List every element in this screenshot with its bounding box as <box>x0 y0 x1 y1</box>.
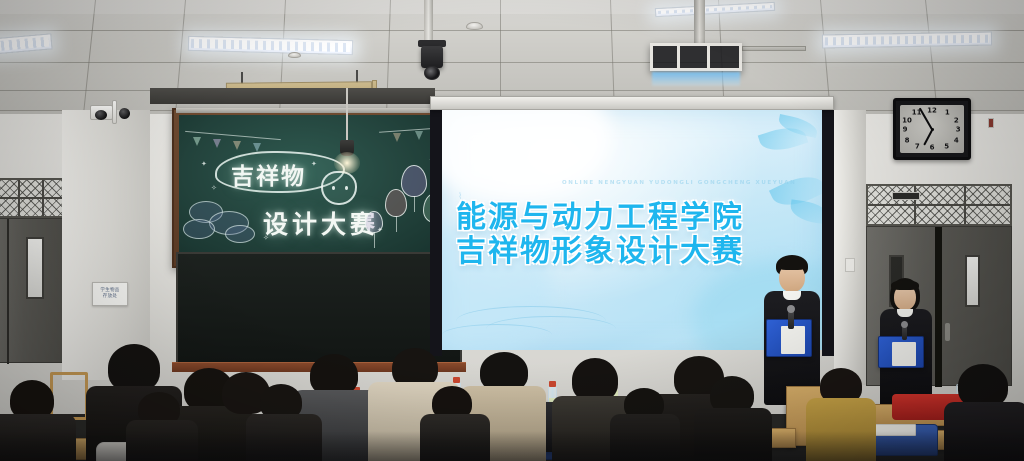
classroom-photo-scene: 学生物品 存放处 吉祥物 设计大赛 <box>0 0 1024 461</box>
left-door-window <box>26 237 44 299</box>
chalk-balloon <box>385 189 407 217</box>
wall-camera-bracket <box>112 100 117 124</box>
folder-page <box>892 342 916 366</box>
chalk-mascot-icon <box>321 171 357 205</box>
lamp-glow <box>334 152 360 174</box>
chalk-balloon <box>401 165 427 197</box>
chalk-sparkle: ✧ <box>263 235 269 242</box>
screen-leaf-decor-lower <box>789 199 822 224</box>
clock-numeral: 10 <box>902 117 912 124</box>
ceiling-vent <box>742 46 806 51</box>
right-wall-column <box>834 110 866 385</box>
bunting-flag <box>213 139 221 148</box>
slide-title-line-2: 吉祥物形象设计大赛 <box>456 226 744 270</box>
blackboard: 吉祥物 设计大赛 ✦ ✧ ✦ ✧ ✦ ✧ ✦ ✧ <box>172 108 460 268</box>
ceiling-panel-light-upper <box>822 32 992 49</box>
wall-switch-plate <box>845 258 855 272</box>
screen-left-border <box>430 98 442 356</box>
wall-clock: 12 1 2 3 4 5 6 7 8 9 10 11 <box>893 98 971 160</box>
clock-numeral: 1 <box>945 110 950 117</box>
bunting-flag <box>233 141 241 150</box>
screen-wash-top-left <box>442 110 612 200</box>
clock-numeral: 2 <box>954 117 959 124</box>
chalk-sparkle: ✦ <box>201 161 207 168</box>
screen-wave-line-3 <box>442 324 552 346</box>
right-door-window-right <box>965 255 980 307</box>
chalk-sparkle: ✦ <box>311 161 317 168</box>
left-door-seam <box>7 219 9 364</box>
bunting-flag <box>393 133 401 142</box>
clock-numeral: 6 <box>930 145 935 152</box>
notice-line-1: 学生物品 <box>100 289 119 294</box>
ceiling-speaker-icon <box>288 52 301 58</box>
foreground-shadow <box>0 431 1024 461</box>
clock-face: 12 1 2 3 4 5 6 7 8 9 10 11 <box>900 105 964 153</box>
left-wall-column <box>62 110 150 380</box>
wall-sensor-icon <box>119 108 130 119</box>
notice-line-2: 存放处 <box>103 295 117 300</box>
camera-lens-icon <box>424 66 440 80</box>
projector-screen-housing <box>430 96 834 110</box>
wall-marker-right <box>988 118 994 128</box>
clock-numeral: 8 <box>905 137 910 144</box>
wall-camera-lens-icon <box>95 110 107 120</box>
student-hair <box>108 344 160 392</box>
lamp-wire <box>346 88 348 142</box>
upper-wall-shadow-band-left <box>150 88 435 104</box>
chalk-sparkle: ✦ <box>377 227 383 234</box>
projector-mount-pole <box>694 0 705 44</box>
host-female-mic-head <box>901 321 908 328</box>
clock-numeral: 9 <box>903 127 908 134</box>
wall-camera <box>90 100 136 126</box>
left-door[interactable] <box>0 218 68 363</box>
clock-center-pin <box>931 128 934 131</box>
blackboard-slider-rail <box>176 108 458 113</box>
host-female-hair-fringe <box>891 280 919 290</box>
host-male-collar <box>783 291 801 300</box>
host-female-folder <box>878 336 924 368</box>
chalk-sparkle: ✦ <box>239 173 245 180</box>
right-door-sign <box>892 192 920 200</box>
chalk-sparkle: ✧ <box>357 215 363 222</box>
camera-mount-pole <box>424 0 433 40</box>
clock-numeral: 7 <box>915 143 920 150</box>
right-door-handle[interactable] <box>945 323 950 341</box>
host-male-mic-head <box>787 305 795 313</box>
bunting-flag <box>415 131 423 140</box>
chalk-sparkle: ✧ <box>211 185 217 192</box>
bunting-flag <box>193 137 201 146</box>
slide-pinyin-subtitle: ONLINE NENGYUAN YUDONGLI GONGCHENG XUEYU… <box>562 180 796 186</box>
projector-cage <box>650 43 742 71</box>
blackboard-surface: 吉祥物 设计大赛 ✦ ✧ ✦ ✧ ✦ ✧ ✦ ✧ <box>179 115 453 261</box>
host-female <box>876 278 938 408</box>
chalk-cloud <box>225 225 255 243</box>
clock-numeral: 3 <box>956 127 961 134</box>
smoke-detector-icon <box>466 22 483 30</box>
right-door-transom <box>866 184 1012 226</box>
host-male-hair-fringe <box>777 259 807 270</box>
host-female-collar <box>897 309 913 317</box>
clock-numeral: 5 <box>944 143 949 150</box>
clock-numeral: 4 <box>954 137 959 144</box>
chalk-cloud <box>183 219 215 239</box>
ceiling-camera-icon <box>421 46 443 68</box>
left-door-transom <box>0 178 68 218</box>
wall-notice-sign: 学生物品 存放处 <box>92 282 128 306</box>
blackboard-chalk-subtitle: 设计大赛 <box>263 205 379 241</box>
clock-numeral: 12 <box>927 108 937 115</box>
projector-lens-glow <box>652 72 740 86</box>
folder-page <box>781 326 805 354</box>
